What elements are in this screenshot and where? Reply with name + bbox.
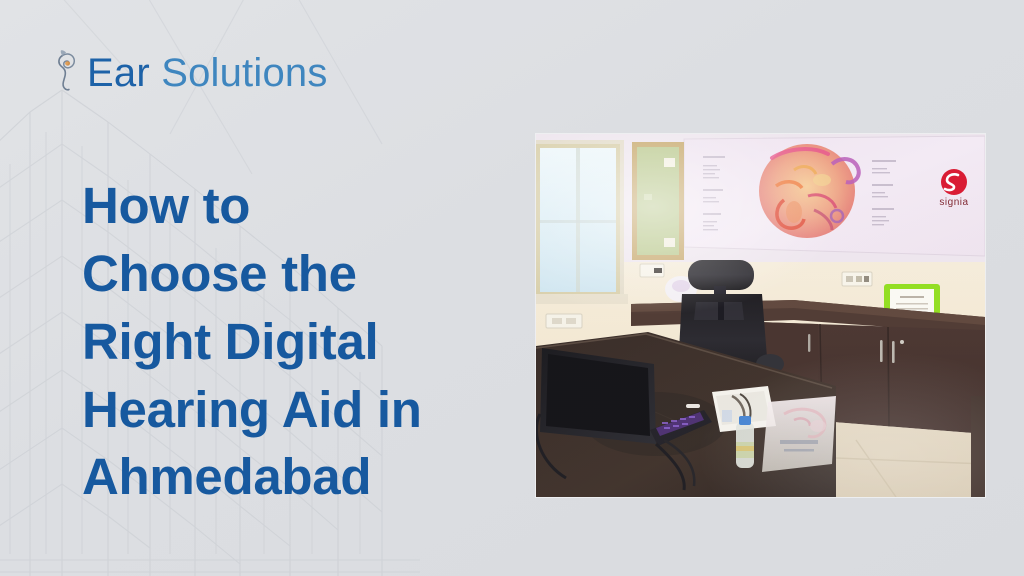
headline-line: Hearing Aid in — [82, 376, 492, 444]
headline-line: Choose the — [82, 240, 492, 308]
ear-cochlea-icon — [55, 49, 85, 97]
clinic-interior-photo: signia — [536, 134, 985, 497]
brand-name-part2: Solutions — [161, 51, 327, 95]
headline-line: Ahmedabad — [82, 443, 492, 511]
headline-line: Right Digital — [82, 308, 492, 376]
page-title: How to Choose the Right Digital Hearing … — [82, 172, 492, 511]
brand-name-part1: Ear — [87, 51, 150, 95]
brand-logo[interactable]: Ear Solutions — [55, 44, 328, 102]
headline-line: How to — [82, 172, 492, 240]
promotional-banner: Ear Solutions How to Choose the Right Di… — [0, 0, 1024, 576]
brand-name: Ear Solutions — [87, 53, 328, 93]
